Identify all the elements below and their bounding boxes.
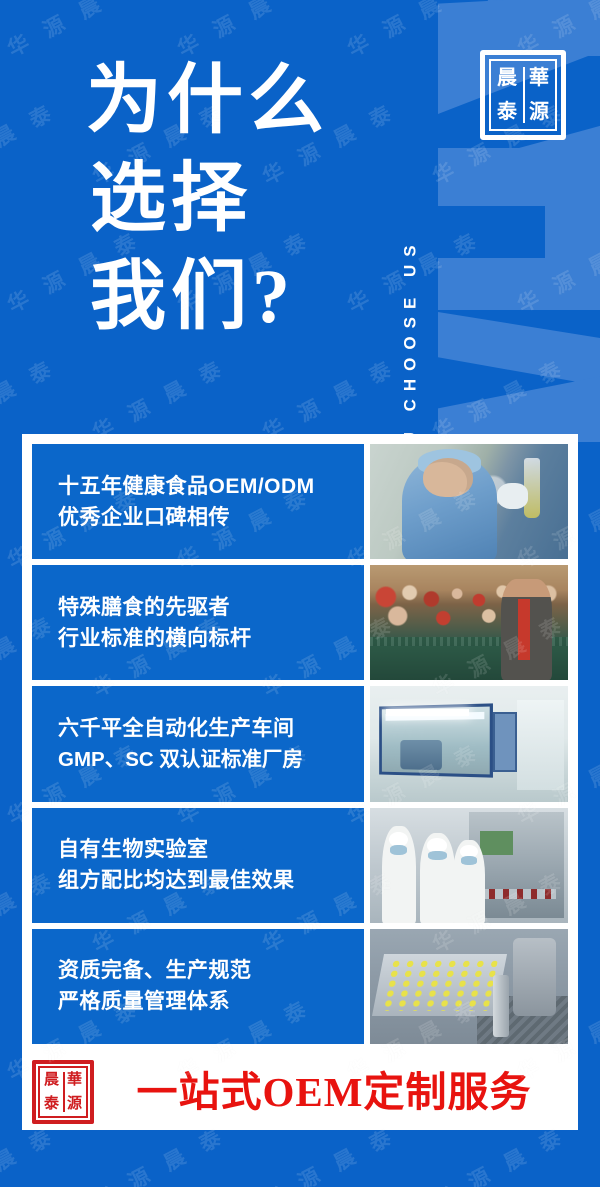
headline-line-2: 选择 <box>86 150 329 248</box>
feature-card-5[interactable]: 资质完备、生产规范 严格质量管理体系 <box>32 929 364 1044</box>
blister-tray-shape <box>372 954 507 1016</box>
feature-line-4a: 自有生物实验室 <box>58 834 364 865</box>
glove-shape <box>497 483 529 508</box>
film-roll-shape <box>513 938 557 1016</box>
ceiling-lamp-shape <box>386 709 469 716</box>
footer-banner: 華 晨 源 泰 一站式OEM定制服务 <box>22 1054 578 1130</box>
seal-divider <box>523 67 525 123</box>
mask-shape <box>425 475 469 495</box>
feature-line-2b: 行业标准的横向标杆 <box>58 623 364 654</box>
poster-root: 为什么 选择 我们? DID YOU CHOOSE US 華 晨 源 泰 十五年… <box>0 0 600 1187</box>
watermark-text: 华 源 晨 泰 <box>597 607 600 703</box>
brand-seal-header: 華 晨 源 泰 <box>480 50 566 140</box>
feature-thumb-1 <box>370 444 568 559</box>
list-item: 十五年健康食品OEM/ODM 优秀企业口碑相传 <box>32 444 568 559</box>
watermark-text: 华 源 晨 泰 <box>597 1119 600 1187</box>
feature-card-1[interactable]: 十五年健康食品OEM/ODM 优秀企业口碑相传 <box>32 444 364 559</box>
headline-line-3: 我们? <box>86 248 329 346</box>
footer-seal-char-hua: 華 <box>63 1068 86 1092</box>
headline-line-1: 为什么 <box>86 52 329 150</box>
brand-seal-footer: 華 晨 源 泰 <box>32 1060 94 1124</box>
flask-shape <box>524 458 540 518</box>
door-shape <box>493 712 517 772</box>
feature-line-4b: 组方配比均达到最佳效果 <box>58 865 364 896</box>
footer-seal-char-tai: 泰 <box>40 1092 63 1116</box>
lab-technician-image <box>370 444 568 559</box>
cap-shape <box>418 449 481 474</box>
blister-machine-image <box>370 929 568 1044</box>
corridor-far-shape <box>517 700 565 790</box>
worker-shape-2 <box>420 833 456 923</box>
feature-line-5b: 严格质量管理体系 <box>58 986 364 1017</box>
cleanroom-image <box>370 686 568 801</box>
feature-card-2[interactable]: 特殊膳食的先驱者 行业标准的横向标杆 <box>32 565 364 680</box>
feature-card-3[interactable]: 六千平全自动化生产车间 GMP、SC 双认证标准厂房 <box>32 686 364 801</box>
vertical-english-tagline: DID YOU CHOOSE US <box>394 14 428 404</box>
watermark-text: 华 源 晨 泰 <box>597 863 600 959</box>
list-item: 六千平全自动化生产车间 GMP、SC 双认证标准厂房 <box>32 686 568 801</box>
feature-line-3a: 六千平全自动化生产车间 <box>58 713 364 744</box>
feature-thumb-5 <box>370 929 568 1044</box>
feature-thumb-2 <box>370 565 568 680</box>
seal-char-hua: 華 <box>523 61 555 95</box>
feature-thumb-4 <box>370 808 568 923</box>
feature-card-4[interactable]: 自有生物实验室 组方配比均达到最佳效果 <box>32 808 364 923</box>
page-title: 为什么 选择 我们? <box>86 52 329 346</box>
list-item: 自有生物实验室 组方配比均达到最佳效果 <box>32 808 568 923</box>
feature-line-3b: GMP、SC 双认证标准厂房 <box>58 744 364 775</box>
poster-header: 为什么 选择 我们? DID YOU CHOOSE US 華 晨 源 泰 <box>0 0 600 428</box>
seal-char-tai: 泰 <box>491 95 523 129</box>
seal-char-chen: 晨 <box>491 61 523 95</box>
list-item: 特殊膳食的先驱者 行业标准的横向标杆 <box>32 565 568 680</box>
seal-char-yuan: 源 <box>523 95 555 129</box>
footer-seal-divider <box>63 1072 65 1112</box>
footer-seal-char-yuan: 源 <box>63 1092 86 1116</box>
list-item: 资质完备、生产规范 严格质量管理体系 <box>32 929 568 1044</box>
footer-slogan: 一站式OEM定制服务 <box>94 1072 574 1113</box>
features-frame: 十五年健康食品OEM/ODM 优秀企业口碑相传 特殊膳食的先驱者 行业标准的横向… <box>22 434 578 1054</box>
feature-line-2a: 特殊膳食的先驱者 <box>58 592 364 623</box>
feature-thumb-3 <box>370 686 568 801</box>
speaker-shape <box>501 579 552 680</box>
conference-image <box>370 565 568 680</box>
feature-line-1a: 十五年健康食品OEM/ODM <box>58 471 364 502</box>
worker-shape-1 <box>382 826 416 923</box>
press-rod-shape <box>493 975 509 1037</box>
feature-line-1b: 优秀企业口碑相传 <box>58 502 364 533</box>
production-line-image <box>370 808 568 923</box>
worker-shape-3 <box>453 840 485 923</box>
footer-seal-char-chen: 晨 <box>40 1068 63 1092</box>
features-list: 十五年健康食品OEM/ODM 优秀企业口碑相传 特殊膳食的先驱者 行业标准的横向… <box>32 444 568 1044</box>
feature-line-5a: 资质完备、生产规范 <box>58 955 364 986</box>
